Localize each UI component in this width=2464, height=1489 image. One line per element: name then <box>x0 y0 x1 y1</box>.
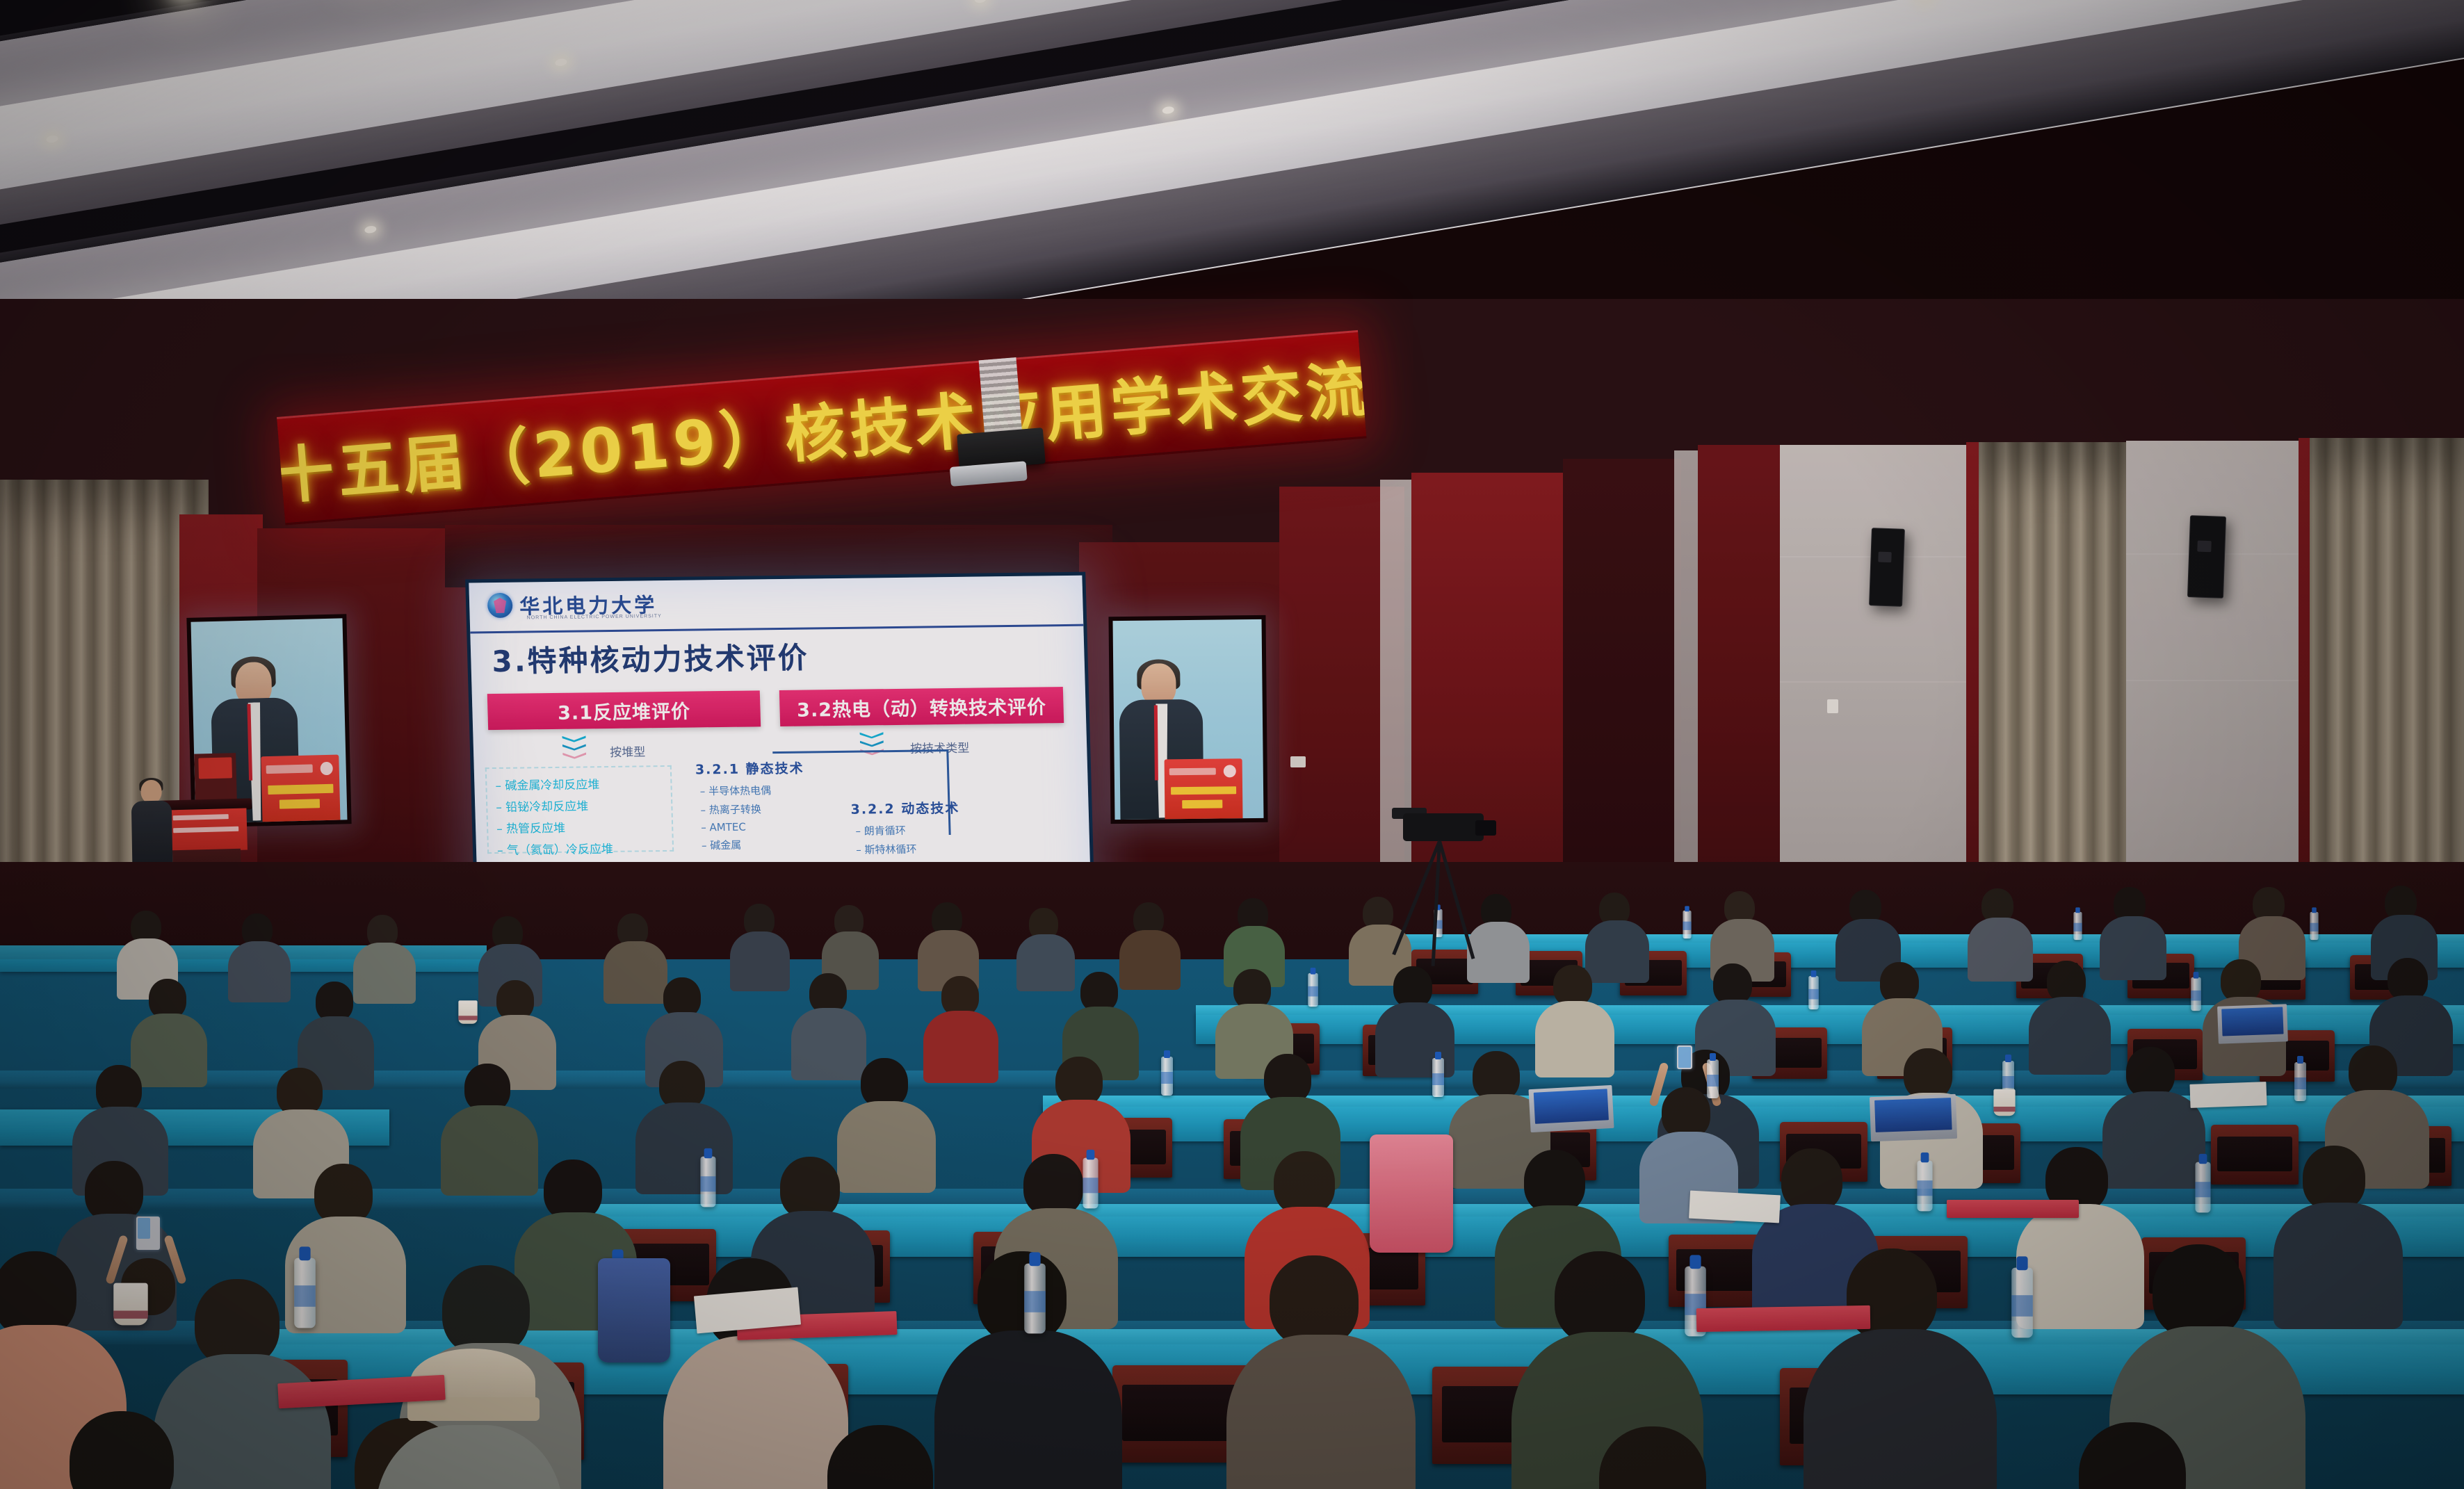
sublabel-by-reactor-type: 按堆型 <box>610 742 646 760</box>
list-item: 斯特林循环 <box>856 840 1033 857</box>
light-switch-icon[interactable] <box>1827 699 1838 713</box>
panel-seam <box>2126 680 2314 681</box>
laptop[interactable] <box>1870 1094 1957 1141</box>
chevron-down-icon <box>562 735 586 763</box>
podium-on-feed <box>1165 758 1243 820</box>
water-bottle[interactable] <box>2195 1162 2210 1213</box>
chair[interactable] <box>2211 1125 2299 1185</box>
list-item: 热管反应堆 <box>496 817 667 836</box>
group-title-static: 3.2.1 静态技术 <box>695 758 841 779</box>
light-switch-icon[interactable] <box>1290 756 1306 767</box>
audience-area <box>0 862 2464 1489</box>
water-bottle[interactable] <box>1161 1057 1173 1096</box>
paper-sheet[interactable] <box>1689 1191 1781 1223</box>
water-bottle[interactable] <box>1917 1161 1932 1212</box>
section-header-3-2: 3.2热电（动）转换技术评价 <box>779 687 1064 726</box>
ceiling-projector <box>957 428 1046 471</box>
water-bottle[interactable] <box>1083 1158 1098 1209</box>
water-bottle[interactable] <box>2294 1062 2306 1101</box>
side-monitor-left <box>186 614 351 828</box>
water-bottle[interactable] <box>2011 1268 2033 1338</box>
paper-sheet[interactable] <box>2189 1082 2267 1108</box>
conference-folder[interactable] <box>1696 1305 1871 1332</box>
list-item: 半导体热电偶 <box>699 782 842 798</box>
shield-logo-icon <box>487 593 513 618</box>
water-bottle[interactable] <box>1707 1059 1719 1098</box>
list-item: 碱金属 <box>702 836 844 852</box>
paper-cup[interactable] <box>113 1283 147 1326</box>
side-monitor-right <box>1108 615 1267 824</box>
water-bottle[interactable] <box>294 1258 316 1328</box>
slide-title: 3.特种核动力技术评价 <box>492 635 810 681</box>
conference-hall-photo: 第十五届（2019）核技术应用学术交流会 华北电力大学 NORTH CHINA … <box>0 0 2464 1489</box>
list-item: 气（氦氙）冷反应堆 <box>497 838 667 858</box>
water-bottle[interactable] <box>2310 912 2318 940</box>
laptop[interactable] <box>2217 1004 2288 1043</box>
static-tech-group: 3.2.1 静态技术 半导体热电偶 热离子转换 AMTEC 碱金属 <box>695 758 843 857</box>
list-item: 热离子转换 <box>700 801 843 817</box>
section-header-3-1: 3.1反应堆评价 <box>487 690 761 730</box>
podium-on-feed <box>261 755 340 824</box>
conference-folder[interactable] <box>1947 1200 2079 1218</box>
backpack[interactable] <box>1370 1134 1453 1253</box>
paper-cup[interactable] <box>1993 1089 2015 1116</box>
wall-red-right-c <box>1698 445 1788 931</box>
water-bottle[interactable] <box>1024 1264 1046 1334</box>
water-bottle[interactable] <box>700 1157 715 1207</box>
list-item: 铅铋冷却反应堆 <box>496 795 666 815</box>
water-bottle[interactable] <box>1683 911 1691 938</box>
water-bottle[interactable] <box>1432 1058 1444 1097</box>
list-item: 碱金属冷却反应堆 <box>495 774 665 793</box>
paper-cup[interactable] <box>458 1000 477 1024</box>
laptop[interactable] <box>1528 1085 1614 1132</box>
water-bottle[interactable] <box>1308 973 1318 1007</box>
projector-mount <box>979 357 1023 438</box>
water-bottle[interactable] <box>1808 976 1819 1009</box>
list-item: 朗肯循环 <box>855 822 1032 838</box>
water-bottle[interactable] <box>2073 912 2082 940</box>
video-camera-tripod <box>1384 813 1502 966</box>
smartphone-icon[interactable] <box>1677 1045 1692 1069</box>
panel-seam <box>1780 681 1988 683</box>
wall-speaker-icon <box>2187 515 2226 599</box>
water-bottle[interactable] <box>2191 977 2201 1011</box>
group-title-dynamic: 3.2.2 动态技术 <box>850 797 1032 818</box>
reactor-bullet-box: 碱金属冷却反应堆 铅铋冷却反应堆 热管反应堆 气（氦氙）冷反应堆 <box>485 765 674 854</box>
backpack[interactable] <box>598 1258 670 1362</box>
wall-speaker-icon <box>1869 528 1905 607</box>
smartphone-icon[interactable] <box>136 1217 160 1250</box>
list-item: AMTEC <box>701 820 843 833</box>
